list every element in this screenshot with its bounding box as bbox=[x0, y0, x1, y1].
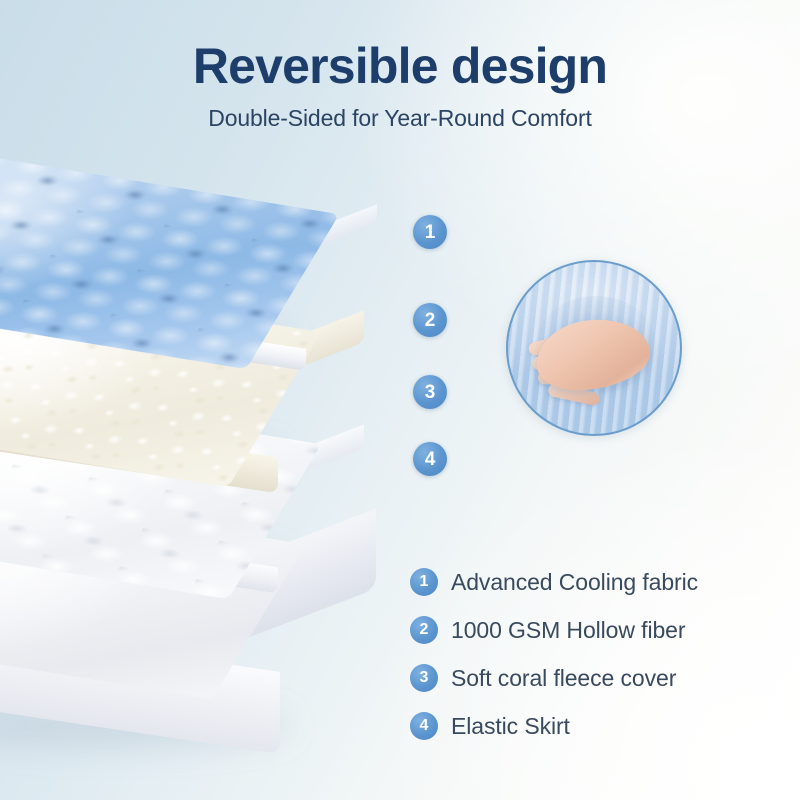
page-title: Reversible design bbox=[0, 40, 800, 93]
header: Reversible design Double-Sided for Year-… bbox=[0, 40, 800, 132]
hand-press-inset-photo bbox=[506, 260, 682, 436]
legend-label-2: 1000 GSM Hollow fiber bbox=[451, 617, 685, 644]
callout-badge-3[interactable]: 3 bbox=[413, 375, 447, 409]
callout-badge-1[interactable]: 1 bbox=[413, 215, 447, 249]
legend-badge-3: 3 bbox=[410, 664, 438, 692]
legend-badge-2: 2 bbox=[410, 616, 438, 644]
legend-label-1: Advanced Cooling fabric bbox=[451, 569, 698, 596]
legend-badge-1: 1 bbox=[410, 568, 438, 596]
page-subtitle: Double-Sided for Year-Round Comfort bbox=[0, 105, 800, 132]
legend-item-4[interactable]: 4 Elastic Skirt bbox=[410, 702, 698, 750]
callout-badge-2[interactable]: 2 bbox=[413, 303, 447, 337]
legend-badge-4: 4 bbox=[410, 712, 438, 740]
legend-item-3[interactable]: 3 Soft coral fleece cover bbox=[410, 654, 698, 702]
legend-label-3: Soft coral fleece cover bbox=[451, 665, 676, 692]
product-infographic: Reversible design Double-Sided for Year-… bbox=[0, 0, 800, 800]
legend-item-2[interactable]: 2 1000 GSM Hollow fiber bbox=[410, 606, 698, 654]
callout-badge-4[interactable]: 4 bbox=[413, 442, 447, 476]
legend-item-1[interactable]: 1 Advanced Cooling fabric bbox=[410, 558, 698, 606]
legend-list: 1 Advanced Cooling fabric 2 1000 GSM Hol… bbox=[410, 558, 698, 750]
legend-label-4: Elastic Skirt bbox=[451, 713, 570, 740]
